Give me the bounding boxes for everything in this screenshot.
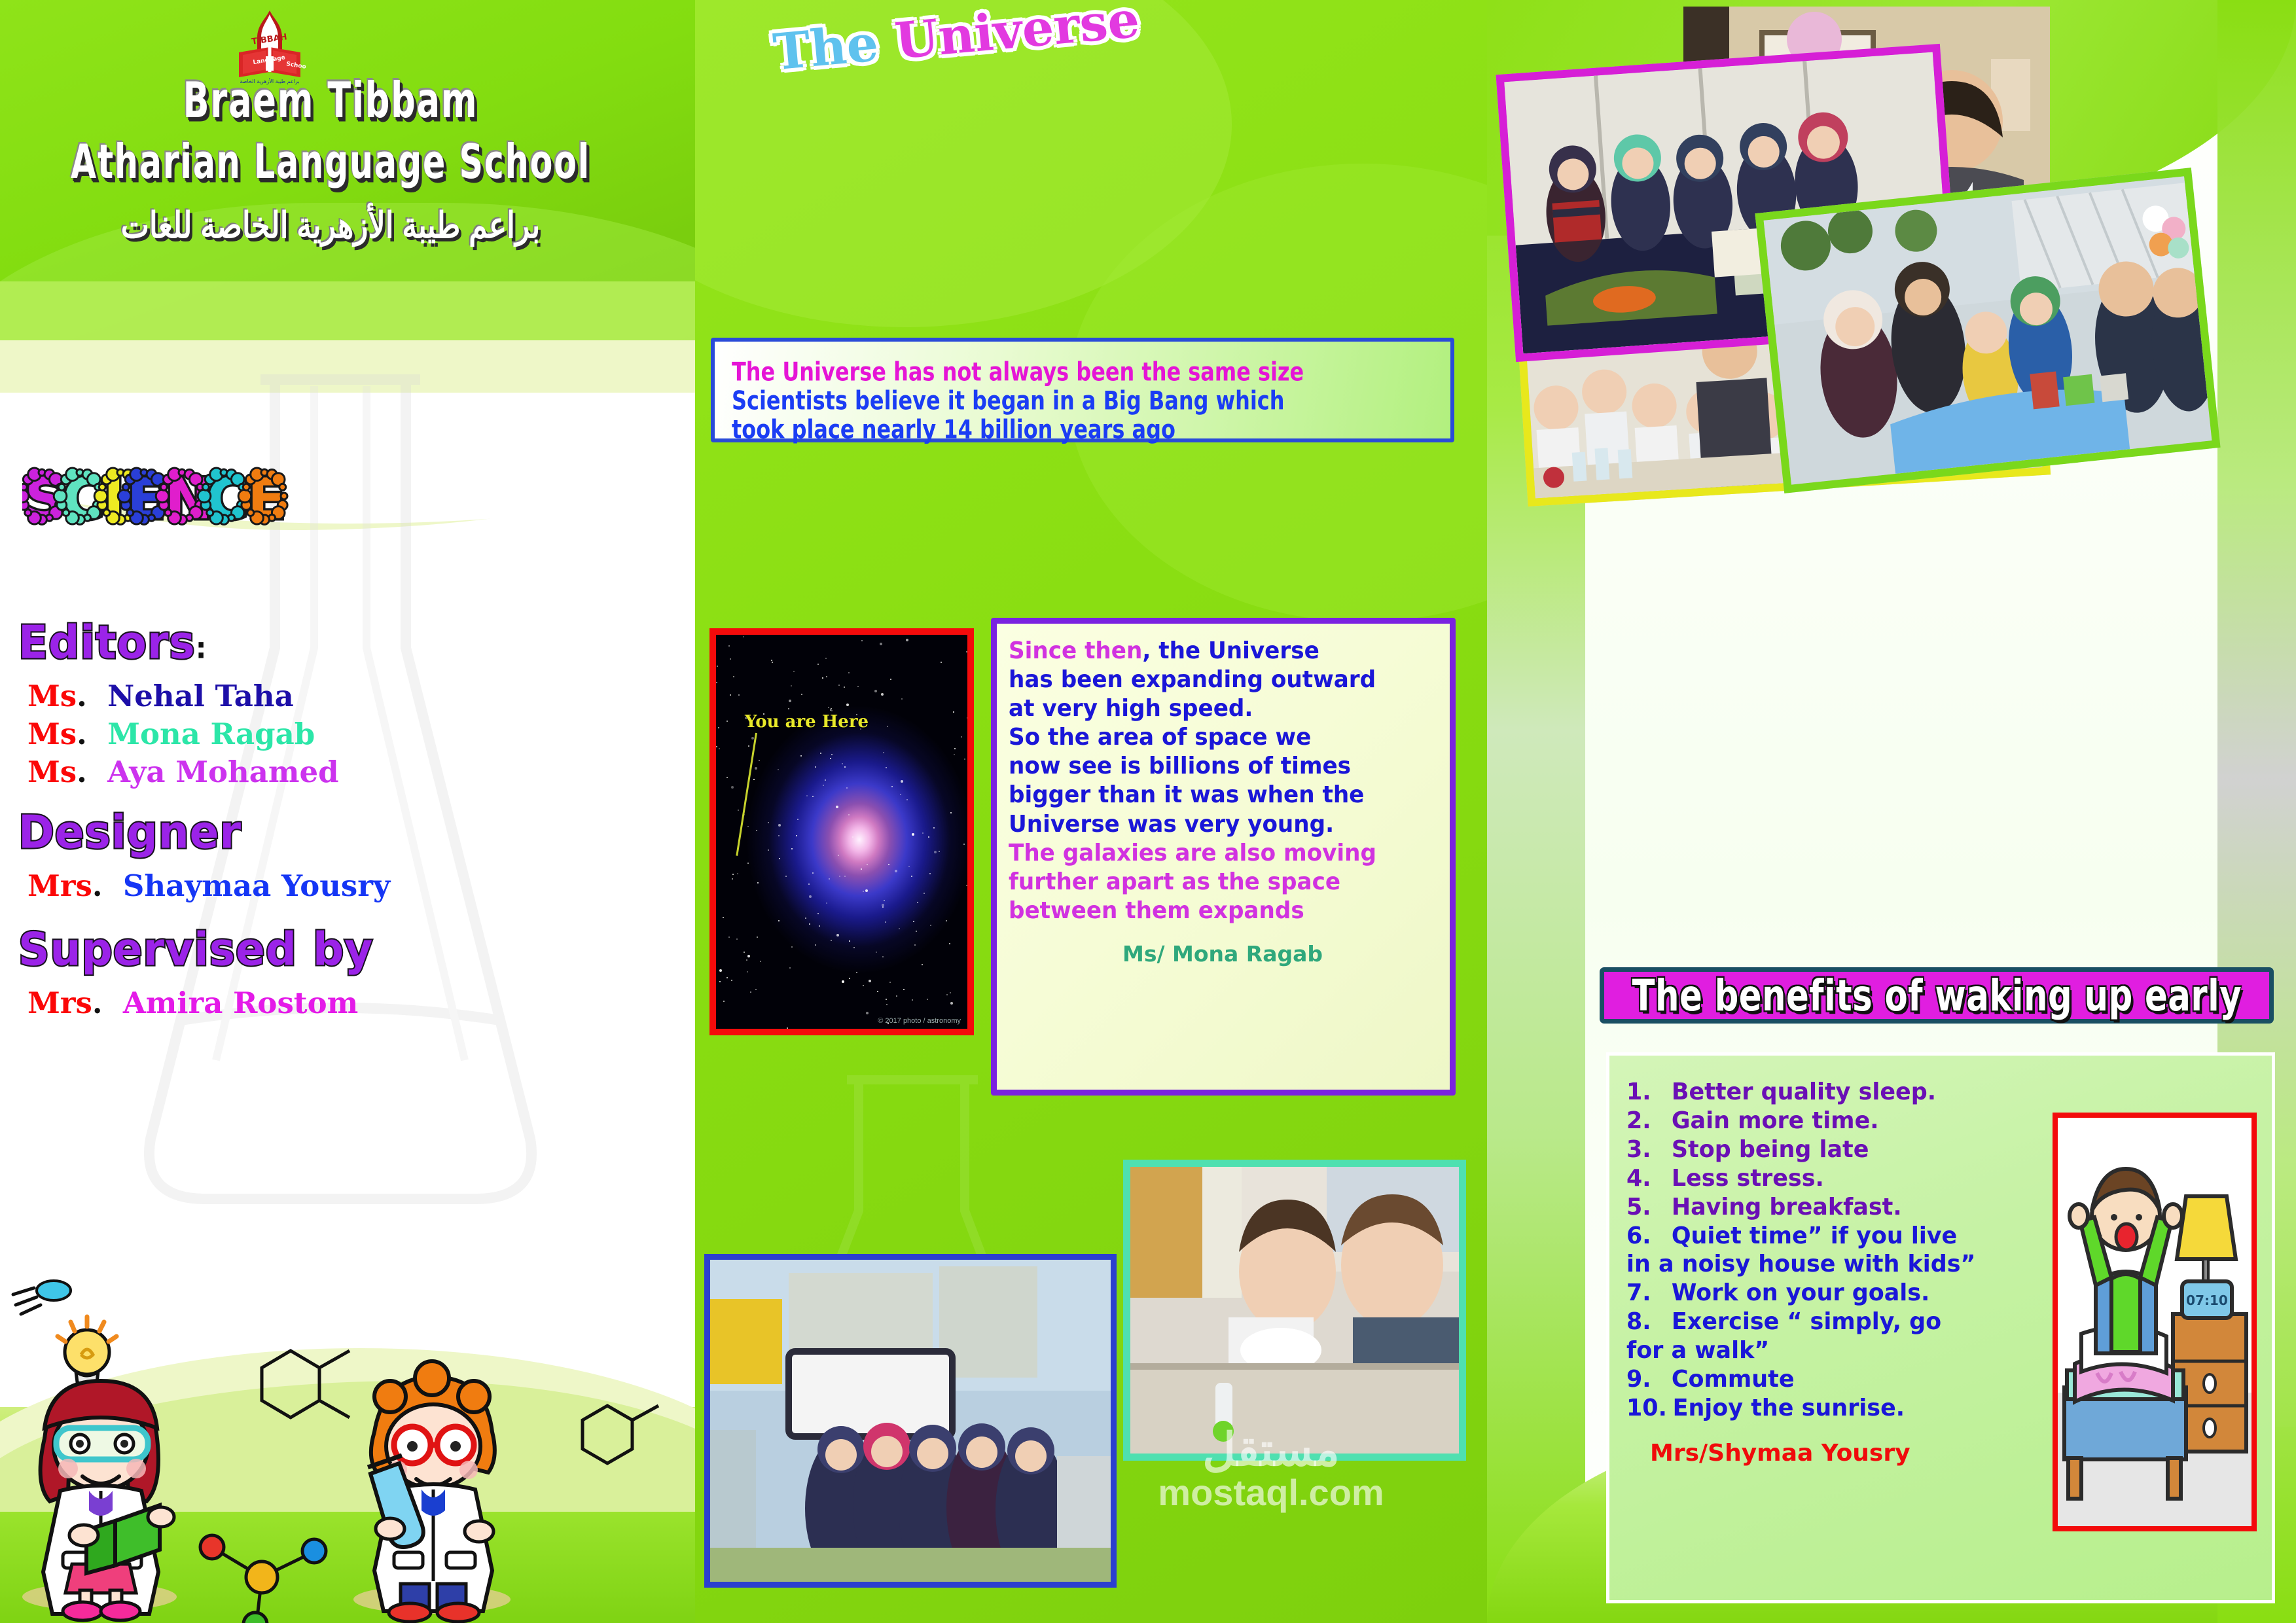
- lightbulb-icon: [58, 1317, 117, 1385]
- benefit-number: 8.: [1626, 1308, 1666, 1336]
- galaxy-star: [842, 980, 844, 983]
- galaxy-star: [866, 1012, 869, 1014]
- benefit-item: 5.Having breakfast.: [1626, 1193, 2020, 1222]
- galaxy-star: [759, 760, 760, 761]
- galaxy-star: [891, 786, 893, 787]
- school-name-arabic: براعم طيبة الأزهرية الخاصة للغات: [0, 204, 661, 246]
- galaxy-star: [877, 991, 878, 992]
- school-title-block: Braem Tibbam Atharian Language School بر…: [0, 79, 661, 243]
- galaxy-star: [829, 878, 830, 880]
- center-column: The Universe The Universe has not always…: [695, 0, 1487, 1623]
- since-line-4: So the area of space we: [1009, 723, 1415, 752]
- editor-row: Ms. Aya Mohamed: [27, 753, 437, 791]
- pill-icon: [13, 1281, 71, 1314]
- galaxy-star: [950, 992, 951, 993]
- supervisor-row: Mrs. Amira Rostom: [27, 984, 437, 1022]
- benefit-item: 3.Stop being late: [1626, 1135, 2020, 1164]
- benefit-item: 2.Gain more time.: [1626, 1107, 2020, 1135]
- benefit-text: Stop being late: [1672, 1135, 1869, 1164]
- benefit-item: 8.Exercise “ simply, go: [1626, 1308, 2020, 1336]
- benefit-item: 4.Less stress.: [1626, 1164, 2020, 1193]
- galaxy-star: [808, 883, 810, 885]
- galaxy-star: [733, 676, 734, 677]
- galaxy-photo: You are Here © 2017 photo / astronomy: [709, 628, 974, 1035]
- universe-intro-box: The Universe has not always been the sam…: [711, 338, 1454, 442]
- galaxy-star: [747, 826, 749, 827]
- galaxy-star: [817, 913, 819, 914]
- science-letter-bubble: [94, 490, 107, 503]
- kid-scientists-illustration: [0, 1257, 695, 1623]
- editor-honorific: Ms: [27, 755, 77, 789]
- benefit-text: Enjoy the sunrise.: [1673, 1394, 1905, 1423]
- galaxy-star: [861, 640, 863, 641]
- benefit-text: Work on your goals.: [1672, 1279, 1929, 1308]
- galaxy-star: [778, 835, 780, 836]
- galaxy-star: [825, 779, 826, 781]
- svg-text:براعم طيبة الأزهرية الخاصة: براعم طيبة الأزهرية الخاصة: [240, 78, 299, 84]
- editor-row: Ms. Mona Ragab: [27, 715, 437, 753]
- science-letter-bubble: [156, 490, 169, 503]
- galaxy-star: [874, 690, 877, 692]
- galaxy-star: [961, 736, 962, 738]
- molecule-balls-icon: [200, 1535, 326, 1623]
- editor-name: Aya Mohamed: [107, 755, 338, 789]
- supervisor-honorific: Mrs: [27, 986, 92, 1020]
- intro-line-2: Scientists believe it began in a Big Ban…: [732, 385, 1391, 418]
- since-line-5: now see is billions of times: [1009, 752, 1415, 781]
- supervisor-name: Amira Rostom: [123, 986, 358, 1020]
- science-letter-bubble: [238, 490, 251, 503]
- galaxy-star: [726, 777, 728, 778]
- galaxy-star: [732, 874, 734, 875]
- galaxy-star: [731, 980, 732, 981]
- editor-name: Mona Ragab: [107, 717, 315, 751]
- universe-title-word1: The: [771, 14, 881, 81]
- photo-school-fair-model: [1755, 168, 2220, 493]
- science-bubble-word: SCIENCE: [22, 450, 297, 534]
- intro-line-3: took place nearly 14 billion years ago: [732, 414, 1391, 446]
- galaxy-star: [830, 758, 831, 759]
- benefit-number: 7.: [1626, 1279, 1666, 1308]
- galaxy-star: [812, 872, 814, 874]
- galaxy-star: [815, 766, 816, 768]
- girl-scientist-figure: [22, 1381, 177, 1620]
- galaxy-star: [901, 780, 903, 783]
- alarm-clock-time: 07:10: [2186, 1293, 2228, 1308]
- galaxy-star: [883, 752, 884, 753]
- designer-row: Mrs. Shaymaa Yousry: [27, 867, 437, 905]
- since-line-7: Universe was very young.: [1009, 810, 1415, 839]
- galaxy-star: [787, 1027, 788, 1029]
- benefit-number: 1.: [1626, 1078, 1666, 1107]
- galaxy-star: [757, 936, 758, 938]
- benefit-text: Quiet time” if you live: [1672, 1222, 1957, 1251]
- science-letter-bubble: [281, 493, 287, 499]
- galaxy-star: [906, 639, 908, 641]
- molecule-hex-icon: [583, 1406, 658, 1463]
- since-line-9: further apart as the space: [1009, 868, 1415, 897]
- editor-row: Ms. Nehal Taha: [27, 677, 437, 715]
- benefit-item: 1.Better quality sleep.: [1626, 1078, 2020, 1107]
- since-line-10: between them expands: [1009, 897, 1415, 925]
- benefit-text: Commute: [1672, 1365, 1795, 1394]
- molecule-structure-icon: [262, 1351, 350, 1418]
- designer-name: Shaymaa Yousry: [123, 868, 390, 903]
- since-lead: Since then: [1009, 637, 1142, 664]
- benefit-number: 3.: [1626, 1135, 1666, 1164]
- galaxy-star: [882, 956, 884, 957]
- galaxy-star: [849, 978, 850, 979]
- benefit-item: 10.Enjoy the sunrise.: [1626, 1394, 2020, 1423]
- supervised-heading: Supervised by: [18, 926, 437, 972]
- galaxy-star: [934, 851, 937, 853]
- designer-heading: Designer: [18, 809, 437, 855]
- galaxy-star: [927, 999, 928, 1000]
- benefit-item: 6.Quiet time” if you live: [1626, 1222, 2020, 1251]
- universe-title-word2: Universe: [893, 0, 1142, 70]
- science-letter-bubble: [22, 490, 29, 503]
- since-line-1-rest: , the Universe: [1142, 637, 1319, 664]
- right-column: God Values: [1487, 0, 2296, 1623]
- editor-dot: .: [77, 717, 87, 751]
- editor-dot: .: [77, 679, 87, 713]
- galaxy-star: [946, 920, 947, 921]
- galaxy-star: [730, 694, 731, 696]
- galaxy-star: [967, 717, 968, 719]
- galaxy-star: [950, 812, 952, 813]
- galaxy-star: [964, 758, 965, 760]
- waking-up-boy-illustration: 07:10: [2053, 1113, 2257, 1531]
- since-line-3: at very high speed.: [1009, 694, 1415, 723]
- galaxy-star: [719, 981, 721, 982]
- galaxy-star: [788, 708, 789, 709]
- galaxy-star: [903, 989, 905, 990]
- galaxy-star: [966, 885, 967, 886]
- galaxy-star: [886, 1004, 888, 1005]
- galaxy-star: [928, 836, 929, 838]
- galaxy-star: [791, 685, 792, 687]
- designer-dot: .: [92, 868, 103, 903]
- benefit-number: 5.: [1626, 1193, 1666, 1222]
- galaxy-star: [924, 893, 925, 894]
- school-name-line2: Atharian Language School: [26, 133, 634, 191]
- benefit-text: Less stress.: [1672, 1164, 1824, 1193]
- photo-students-outdoors: [704, 1254, 1117, 1588]
- benefit-number: 10.: [1626, 1394, 1667, 1423]
- science-letter-bubble: [118, 490, 131, 503]
- benefits-list: 1.Better quality sleep.2.Gain more time.…: [1626, 1078, 2032, 1423]
- benefit-number: 2.: [1626, 1107, 1666, 1135]
- galaxy-star: [838, 855, 839, 856]
- galaxy-star: [719, 969, 722, 972]
- galaxy-star: [849, 940, 850, 942]
- galaxy-star: [753, 779, 755, 780]
- science-letter-bubble: [279, 484, 286, 490]
- editors-heading: Editors:: [18, 619, 437, 666]
- galaxy-star: [867, 864, 868, 865]
- benefit-text-continued: for a walk”: [1626, 1336, 2020, 1365]
- school-name-line1: Braem Tibbam: [26, 71, 634, 132]
- galaxy-star: [822, 677, 823, 679]
- galaxy-star: [730, 658, 731, 660]
- magazine-page: TIBBAH Language School براعم طيبة الأزهر…: [0, 0, 2296, 1623]
- galaxy-star: [750, 991, 751, 993]
- benefit-item: 9.Commute: [1626, 1365, 2020, 1394]
- galaxy-star: [896, 995, 897, 997]
- galaxy-image: [716, 635, 967, 1029]
- science-letter-bubble: [54, 490, 67, 503]
- universe-expansion-box: Since then, the Universe has been expand…: [991, 618, 1456, 1096]
- safety-goggles-icon: [56, 1428, 148, 1459]
- benefit-text: Exercise “ simply, go: [1672, 1308, 1941, 1336]
- mostaql-watermark-site: mostaql.com: [1075, 1472, 1467, 1513]
- galaxy-star: [953, 711, 954, 713]
- galaxy-star: [789, 700, 791, 702]
- galaxy-star: [760, 961, 761, 962]
- you-are-here-label: You are Here: [745, 712, 869, 732]
- since-signature: Ms/ Mona Ragab: [1009, 941, 1437, 967]
- galaxy-star: [731, 786, 734, 789]
- galaxy-star: [726, 721, 728, 722]
- galaxy-star: [791, 946, 793, 948]
- galaxy-star: [889, 982, 891, 983]
- benefit-text-continued: in a noisy house with kids”: [1626, 1250, 2020, 1279]
- benefit-text: Gain more time.: [1672, 1107, 1879, 1135]
- science-letter-bubble: [198, 490, 211, 503]
- galaxy-star: [848, 814, 850, 815]
- left-column: TIBBAH Language School براعم طيبة الأزهر…: [0, 0, 695, 1623]
- galaxy-star: [726, 977, 728, 978]
- galaxy-star: [826, 902, 827, 904]
- galaxy-credit: © 2017 photo / astronomy: [878, 1017, 961, 1025]
- galaxy-star: [899, 928, 900, 929]
- galaxy-star: [939, 851, 940, 852]
- galaxy-star: [800, 755, 802, 757]
- galaxy-star: [882, 906, 884, 908]
- galaxy-star: [916, 931, 917, 932]
- galaxy-star: [831, 754, 833, 755]
- editor-honorific: Ms: [27, 679, 77, 713]
- galaxy-star: [856, 972, 857, 973]
- since-line-2: has been expanding outward: [1009, 666, 1415, 694]
- galaxy-star: [755, 767, 757, 770]
- supervisor-dot: .: [92, 986, 103, 1020]
- galaxy-star: [805, 918, 806, 919]
- benefit-number: 9.: [1626, 1365, 1666, 1394]
- galaxy-star: [736, 938, 738, 940]
- galaxy-star: [886, 767, 887, 768]
- galaxy-star: [880, 643, 882, 645]
- since-line-6: bigger than it was when the: [1009, 781, 1415, 810]
- galaxy-star: [756, 830, 757, 831]
- designer-honorific: Mrs: [27, 868, 92, 903]
- galaxy-star: [869, 980, 871, 982]
- benefit-number: 6.: [1626, 1222, 1666, 1251]
- intro-line-1: The Universe has not always been the sam…: [732, 356, 1391, 389]
- galaxy-star: [778, 920, 780, 921]
- galaxy-star: [836, 806, 838, 808]
- benefit-text: Having breakfast.: [1672, 1193, 1902, 1222]
- benefit-text: Better quality sleep.: [1672, 1078, 1936, 1107]
- school-crest-logo: TIBBAH Language School براعم طيبة الأزهر…: [234, 9, 306, 86]
- credits-block: Editors: Ms. Nehal Taha Ms. Mona Ragab M…: [18, 620, 437, 1022]
- galaxy-star: [751, 737, 754, 740]
- universe-title: The Universe: [695, 0, 1247, 105]
- galaxy-star: [746, 959, 747, 961]
- editor-name: Nehal Taha: [107, 679, 294, 713]
- galaxy-star: [844, 876, 846, 877]
- since-line-1: Since then, the Universe: [1009, 637, 1415, 666]
- editor-dot: .: [77, 755, 87, 789]
- editor-honorific: Ms: [27, 717, 77, 751]
- editors-colon: :: [196, 631, 207, 665]
- since-line-8: The galaxies are also moving: [1009, 839, 1415, 868]
- galaxy-star: [825, 658, 827, 659]
- boy-scientist-figure: [353, 1361, 511, 1622]
- benefits-title-text: The benefits of waking up early: [1632, 971, 2242, 1021]
- galaxy-star: [966, 651, 967, 652]
- photo-lab-experiment: [1123, 1160, 1466, 1461]
- benefit-number: 4.: [1626, 1164, 1666, 1193]
- editors-heading-label: Editors: [18, 616, 196, 669]
- benefits-title-banner: The benefits of waking up early: [1600, 967, 2274, 1024]
- benefit-item: 7.Work on your goals.: [1626, 1279, 2020, 1308]
- galaxy-star: [828, 707, 829, 708]
- galaxy-star: [838, 685, 840, 686]
- galaxy-star: [737, 873, 738, 874]
- galaxy-star: [844, 687, 845, 688]
- galaxy-star: [817, 664, 819, 665]
